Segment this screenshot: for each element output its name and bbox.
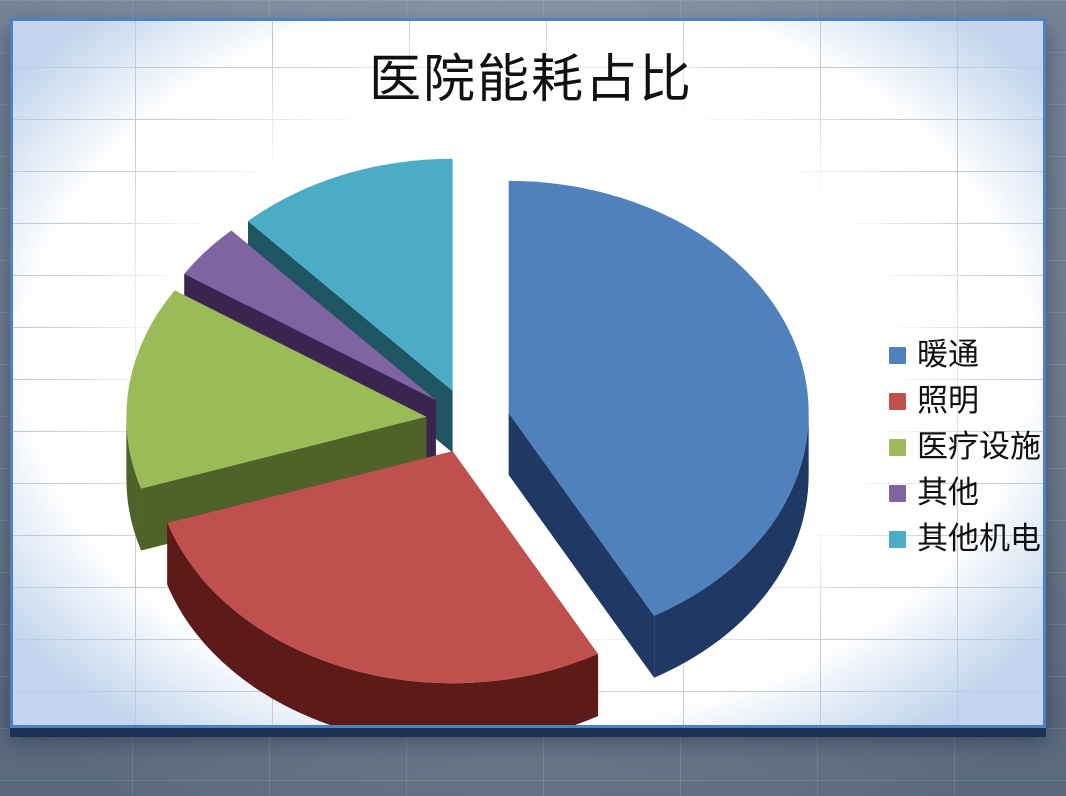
legend-swatch-icon <box>889 485 906 502</box>
legend-item[interactable]: 照明 <box>889 385 1041 417</box>
legend-item-label: 照明 <box>917 385 979 417</box>
legend-item[interactable]: 其他机电 <box>889 523 1041 555</box>
legend-item-label: 其他 <box>917 477 979 509</box>
legend-item[interactable]: 暖通 <box>889 339 1041 371</box>
legend-swatch-icon <box>889 347 906 364</box>
slide-panel: 医院能耗占比 暖通照明医疗设施其他其他机电 <box>10 18 1046 728</box>
legend-swatch-icon <box>889 439 906 456</box>
legend-item-label: 其他机电 <box>917 523 1041 555</box>
legend-item[interactable]: 医疗设施 <box>889 431 1041 463</box>
legend-item[interactable]: 其他 <box>889 477 1041 509</box>
chart-legend: 暖通照明医疗设施其他其他机电 <box>889 339 1041 555</box>
legend-swatch-icon <box>889 531 906 548</box>
legend-item-label: 医疗设施 <box>917 431 1041 463</box>
chart-title: 医院能耗占比 <box>13 51 1046 111</box>
legend-item-label: 暖通 <box>917 339 979 371</box>
legend-swatch-icon <box>889 393 906 410</box>
slide-canvas: 医院能耗占比 暖通照明医疗设施其他其他机电 <box>0 0 1066 796</box>
